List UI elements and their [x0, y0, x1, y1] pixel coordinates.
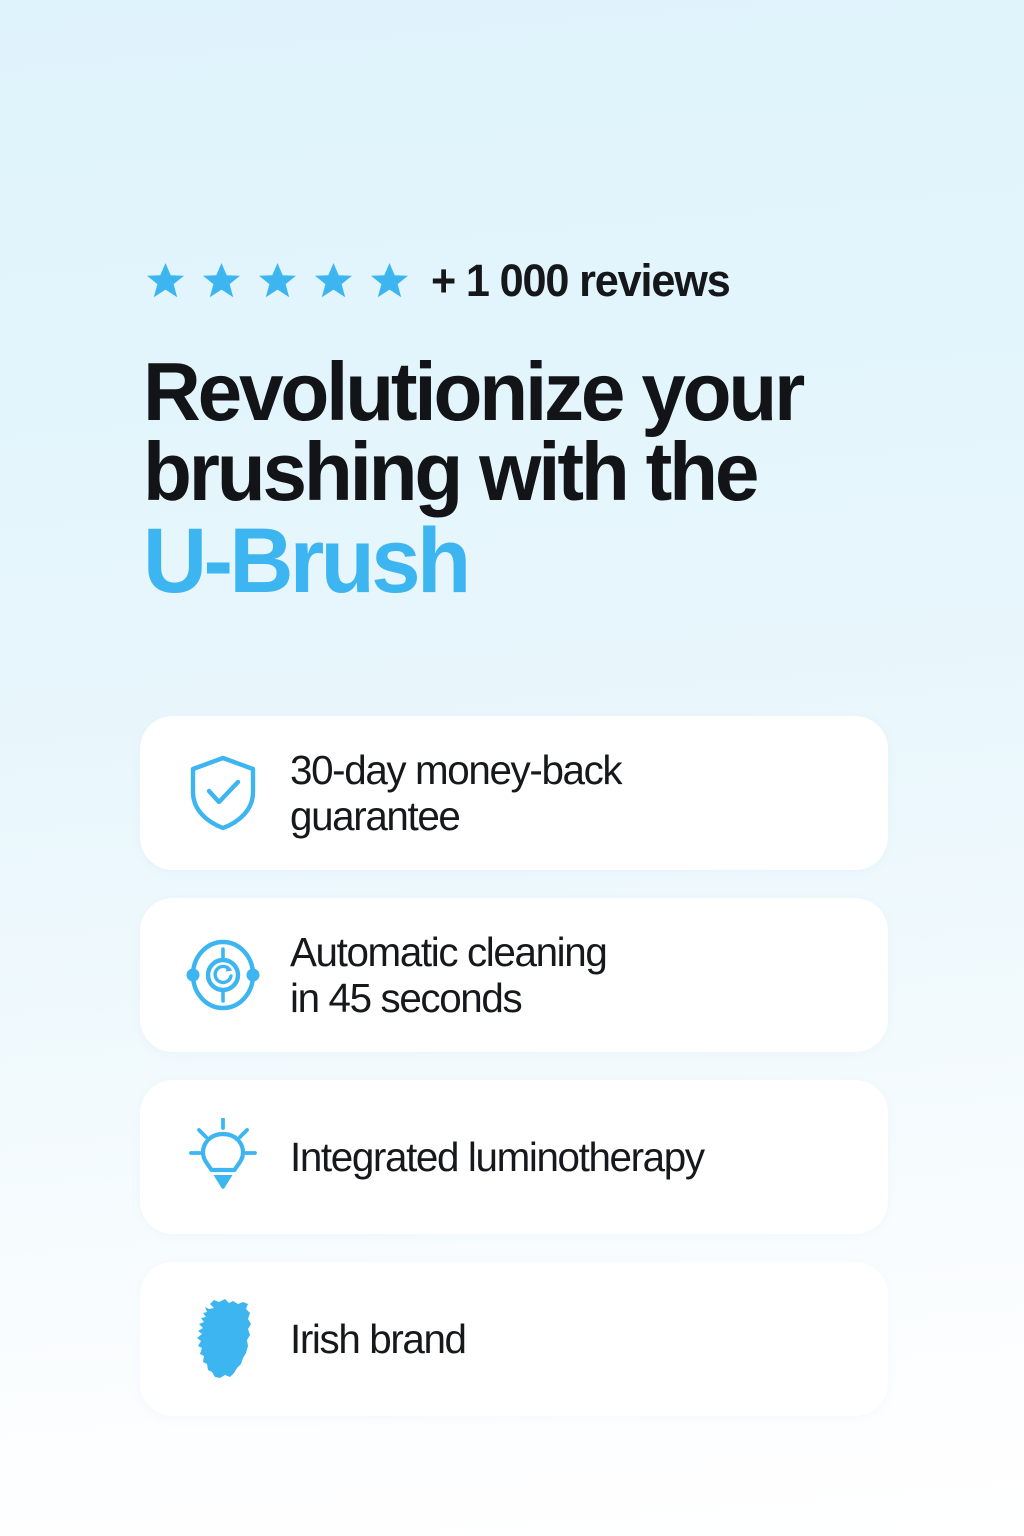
headline-line-1: Revolutionize your: [143, 352, 954, 432]
feature-text-line-2: guarantee: [290, 793, 621, 839]
feature-text-line-1: Automatic cleaning: [290, 929, 606, 975]
star-icon: [146, 261, 185, 300]
feature-card-text: Irish brand: [290, 1316, 466, 1362]
feature-text-line-2: in 45 seconds: [290, 975, 606, 1021]
star-icon: [258, 261, 297, 300]
feature-text-line-1: Irish brand: [290, 1316, 466, 1362]
star-icon: [202, 261, 241, 300]
feature-card-money-back[interactable]: 30-day money-back guarantee: [140, 716, 888, 870]
star-rating: [146, 261, 409, 300]
headline-line-2: brushing with the: [143, 432, 954, 512]
ireland-map-icon: [180, 1296, 266, 1382]
lightbulb-icon: [180, 1114, 266, 1200]
auto-clean-timer-icon: [180, 932, 266, 1018]
feature-text-line-1: Integrated luminotherapy: [290, 1134, 704, 1180]
reviews-count-label: + 1 000 reviews: [431, 258, 730, 303]
feature-card-text: Automatic cleaning in 45 seconds: [290, 929, 606, 1022]
shield-check-icon: [180, 750, 266, 836]
feature-card-list: 30-day money-back guarantee Automatic c: [140, 716, 888, 1416]
star-icon: [314, 261, 353, 300]
reviews-rating: + 1 000 reviews: [146, 258, 742, 303]
feature-text-line-1: 30-day money-back: [290, 747, 621, 793]
brand-name: U-Brush: [143, 512, 954, 610]
feature-card-auto-cleaning[interactable]: Automatic cleaning in 45 seconds: [140, 898, 888, 1052]
promo-page: + 1 000 reviews Revolutionize your brush…: [0, 0, 1024, 1536]
page-title: Revolutionize your brushing with the U-B…: [143, 352, 954, 611]
feature-card-text: 30-day money-back guarantee: [290, 747, 621, 840]
feature-card-luminotherapy[interactable]: Integrated luminotherapy: [140, 1080, 888, 1234]
feature-card-irish-brand[interactable]: Irish brand: [140, 1262, 888, 1416]
star-icon: [370, 261, 409, 300]
feature-card-text: Integrated luminotherapy: [290, 1134, 704, 1180]
